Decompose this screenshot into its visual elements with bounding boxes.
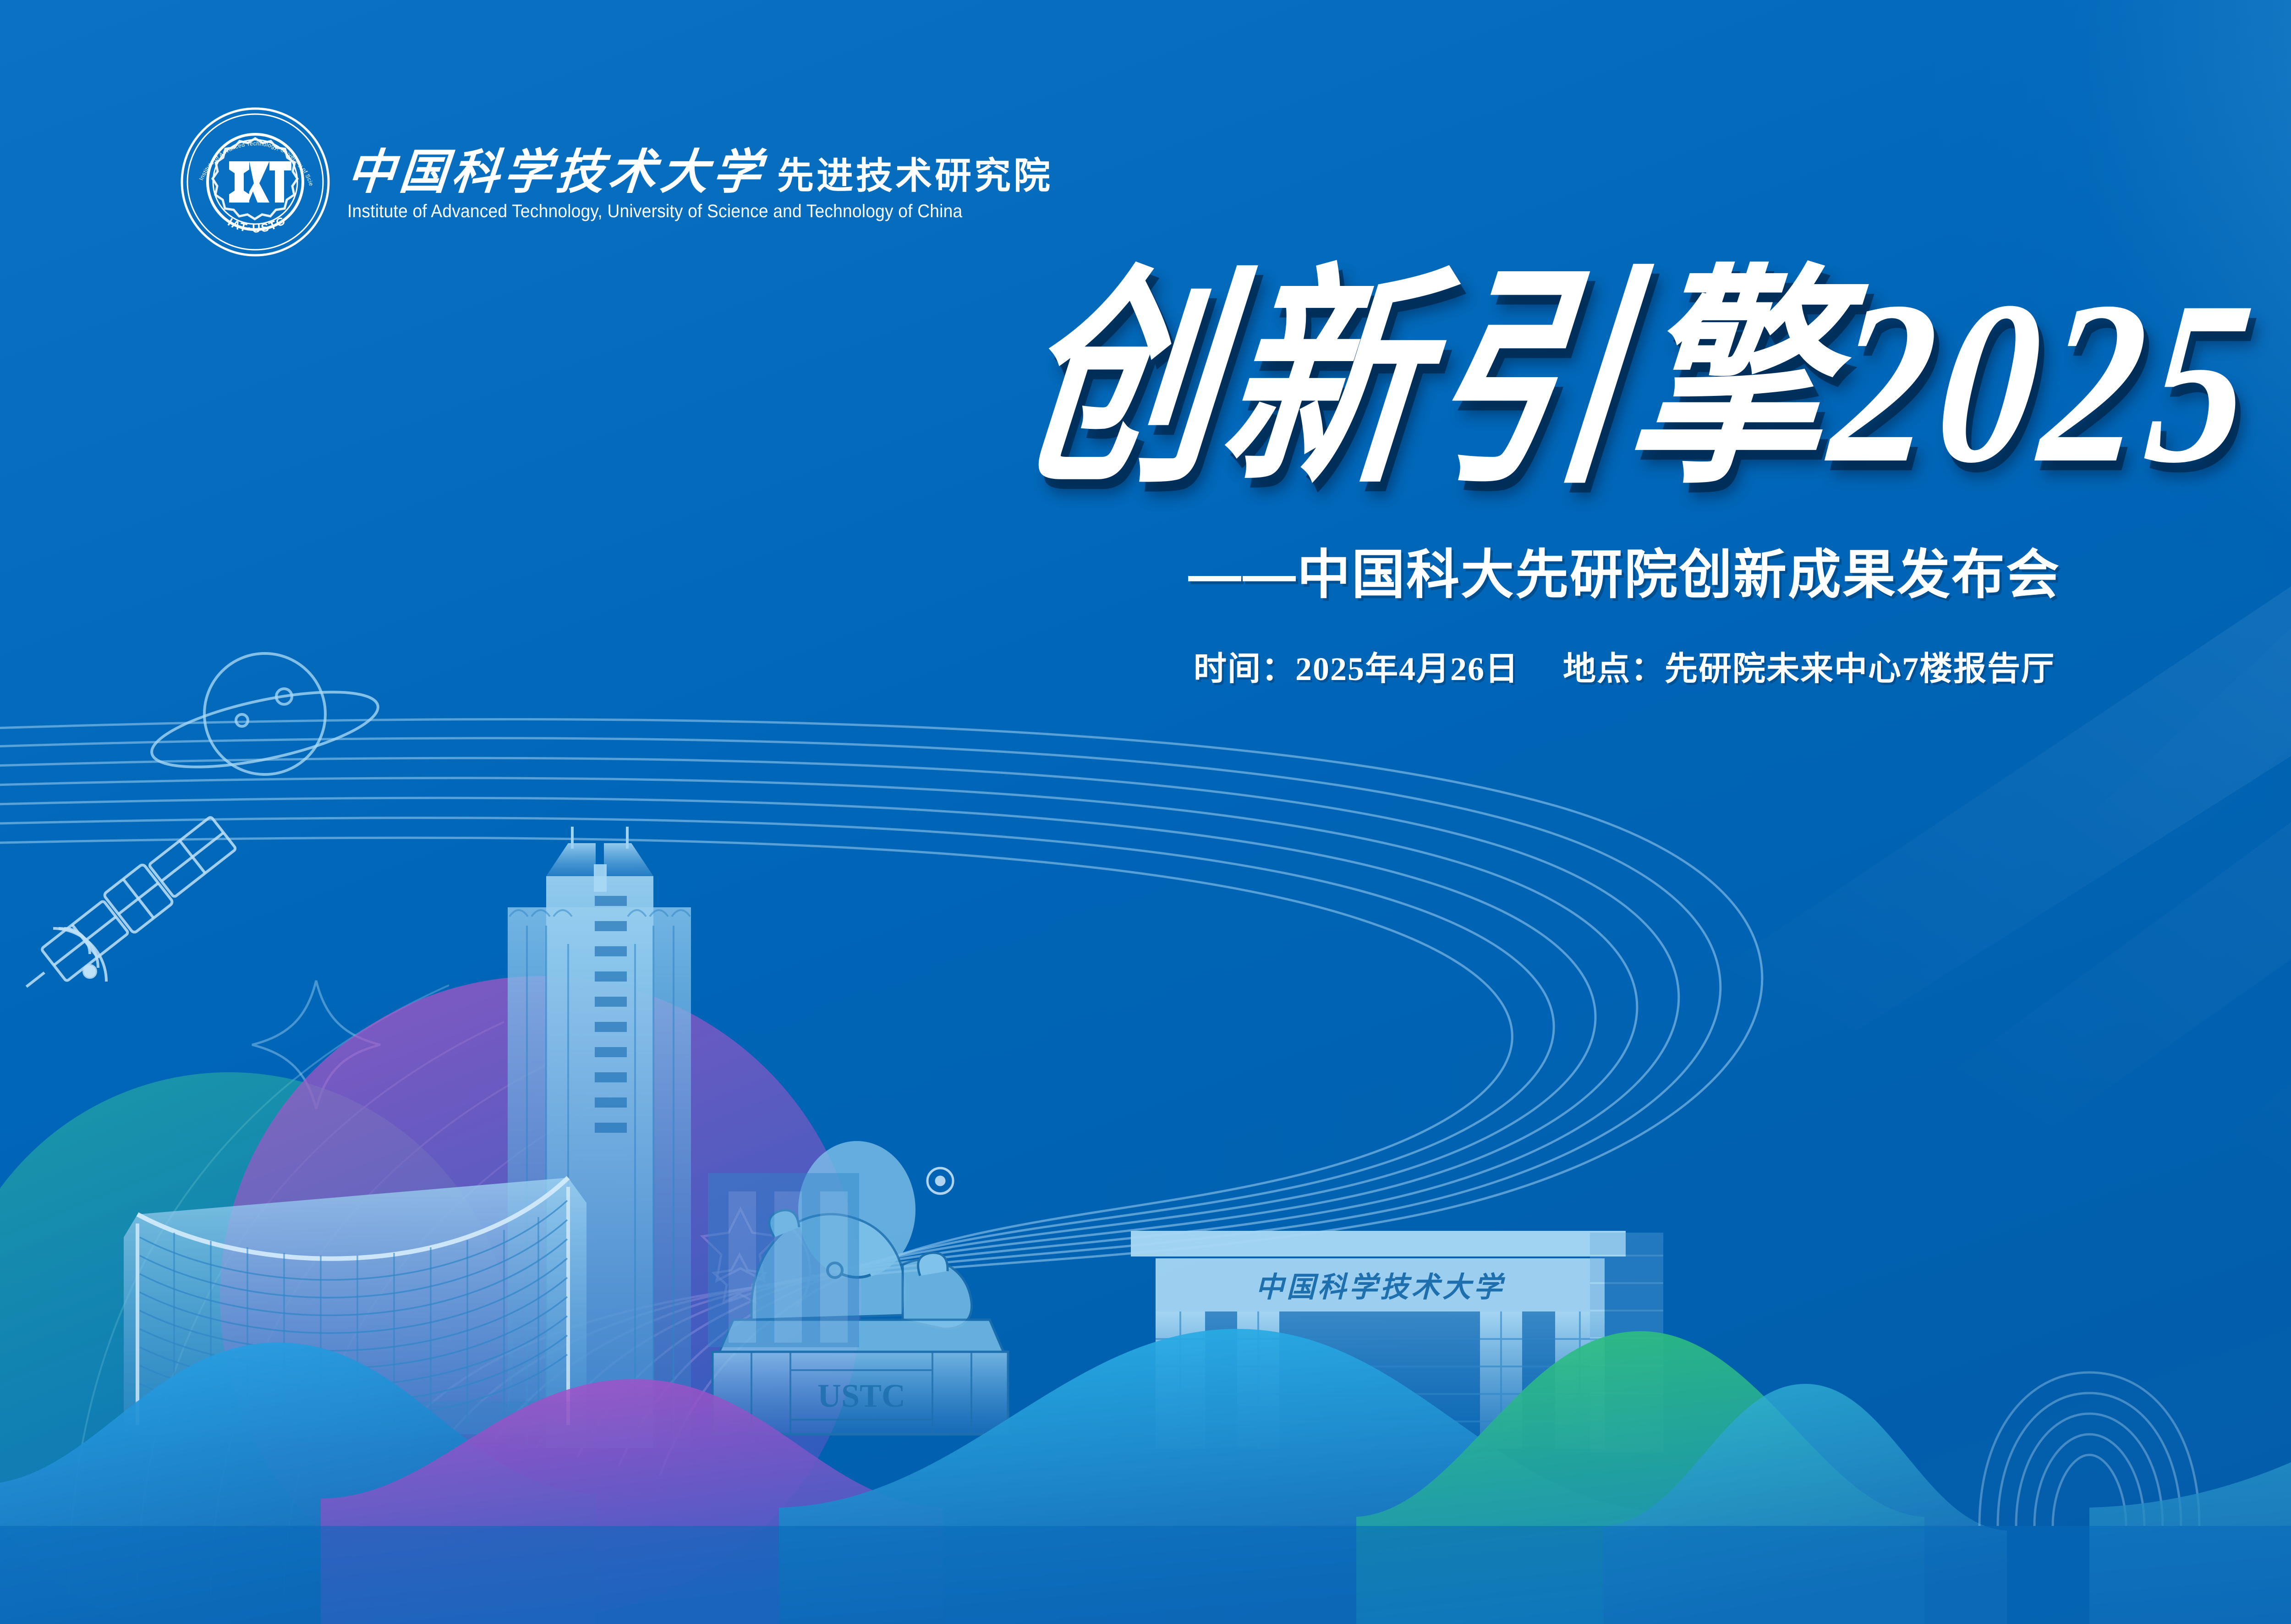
logo-text-block: 中国科学技术大学 先进技术研究院 Institute of Advanced T…	[347, 143, 1053, 222]
logo-institute-name: 先进技术研究院	[777, 158, 1053, 195]
logo-lockup: IAT·USTC Institute of Advanced Technolog…	[180, 106, 1053, 258]
poster-canvas: USTC	[0, 0, 2291, 1624]
event-time: 时间：2025年4月26日	[1194, 642, 1519, 690]
event-subtitle: ——中国科大先研院创新成果发布会	[1188, 532, 2061, 609]
headline-block: 创新引擎2025 ——中国科大先研院创新成果发布会 时间：2025年4月26日 …	[0, 284, 2291, 690]
event-meta-line: 时间：2025年4月26日 地点：先研院未来中心7楼报告厅	[1194, 642, 2055, 690]
logo-english-name: Institute of Advanced Technology, Univer…	[347, 201, 1003, 222]
logo-university-name: 中国科学技术大学	[345, 149, 767, 197]
iat-ustc-seal-icon: IAT·USTC Institute of Advanced Technolog…	[180, 106, 331, 258]
logo-chinese-row: 中国科学技术大学 先进技术研究院	[347, 149, 1053, 197]
event-location: 地点：先研院未来中心7楼报告厅	[1563, 642, 2055, 690]
main-title: 创新引擎2025	[981, 266, 2267, 499]
